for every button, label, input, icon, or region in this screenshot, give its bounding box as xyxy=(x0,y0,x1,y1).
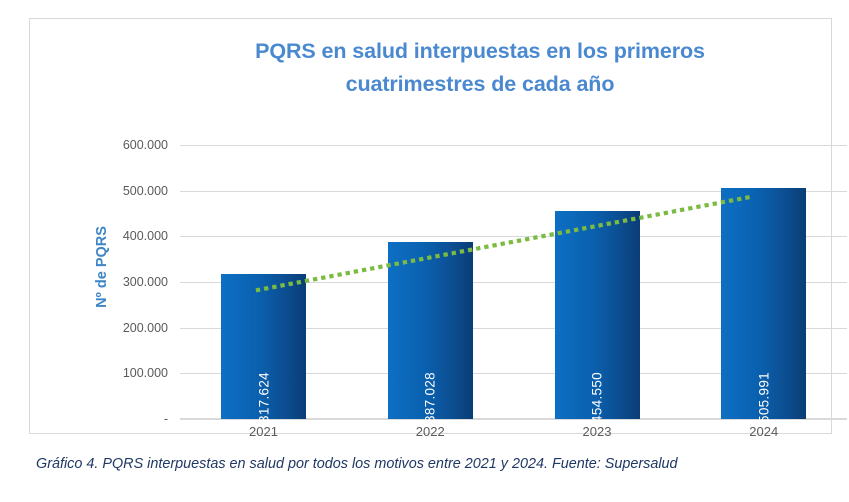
bar-value-label: 454.550 xyxy=(590,372,605,423)
chart-title-line-1: PQRS en salud interpuestas en los primer… xyxy=(130,35,830,68)
x-tick-label-2024: 2024 xyxy=(680,424,847,439)
plot-area: 317.624 387.028 454.550 505.991 xyxy=(180,145,847,419)
chart-frame: PQRS en salud interpuestas en los primer… xyxy=(29,18,832,434)
bar-value-label: 317.624 xyxy=(256,372,271,423)
y-tick-label: 400.000 xyxy=(78,230,168,243)
y-tick-label: 300.000 xyxy=(78,276,168,289)
x-axis-tick-labels: 2021 2022 2023 2024 xyxy=(180,421,847,445)
y-tick-label: 500.000 xyxy=(78,185,168,198)
x-tick-label-2023: 2023 xyxy=(514,424,681,439)
x-tick-label-2022: 2022 xyxy=(347,424,514,439)
chart-title: PQRS en salud interpuestas en los primer… xyxy=(130,35,830,101)
y-axis-tick-labels: 600.000 500.000 400.000 300.000 200.000 … xyxy=(68,145,168,419)
bar-slot-2021: 317.624 xyxy=(180,145,347,419)
bar-slot-2024: 505.991 xyxy=(680,145,847,419)
y-tick-label: 100.000 xyxy=(78,367,168,380)
bar-2023[interactable]: 454.550 xyxy=(555,211,640,419)
bar-slot-2022: 387.028 xyxy=(347,145,514,419)
bar-value-label: 387.028 xyxy=(423,372,438,423)
figure-caption: Gráfico 4. PQRS interpuestas en salud po… xyxy=(36,456,836,472)
y-tick-label: 200.000 xyxy=(78,322,168,335)
bar-2024[interactable]: 505.991 xyxy=(721,188,806,419)
y-tick-label: 600.000 xyxy=(78,139,168,152)
bar-value-label: 505.991 xyxy=(756,372,771,423)
y-tick-label: - xyxy=(78,413,168,426)
bar-slot-2023: 454.550 xyxy=(514,145,681,419)
bar-2021[interactable]: 317.624 xyxy=(221,274,306,419)
x-tick-label-2021: 2021 xyxy=(180,424,347,439)
bar-2022[interactable]: 387.028 xyxy=(388,242,473,419)
chart-title-line-2: cuatrimestres de cada año xyxy=(130,68,830,101)
